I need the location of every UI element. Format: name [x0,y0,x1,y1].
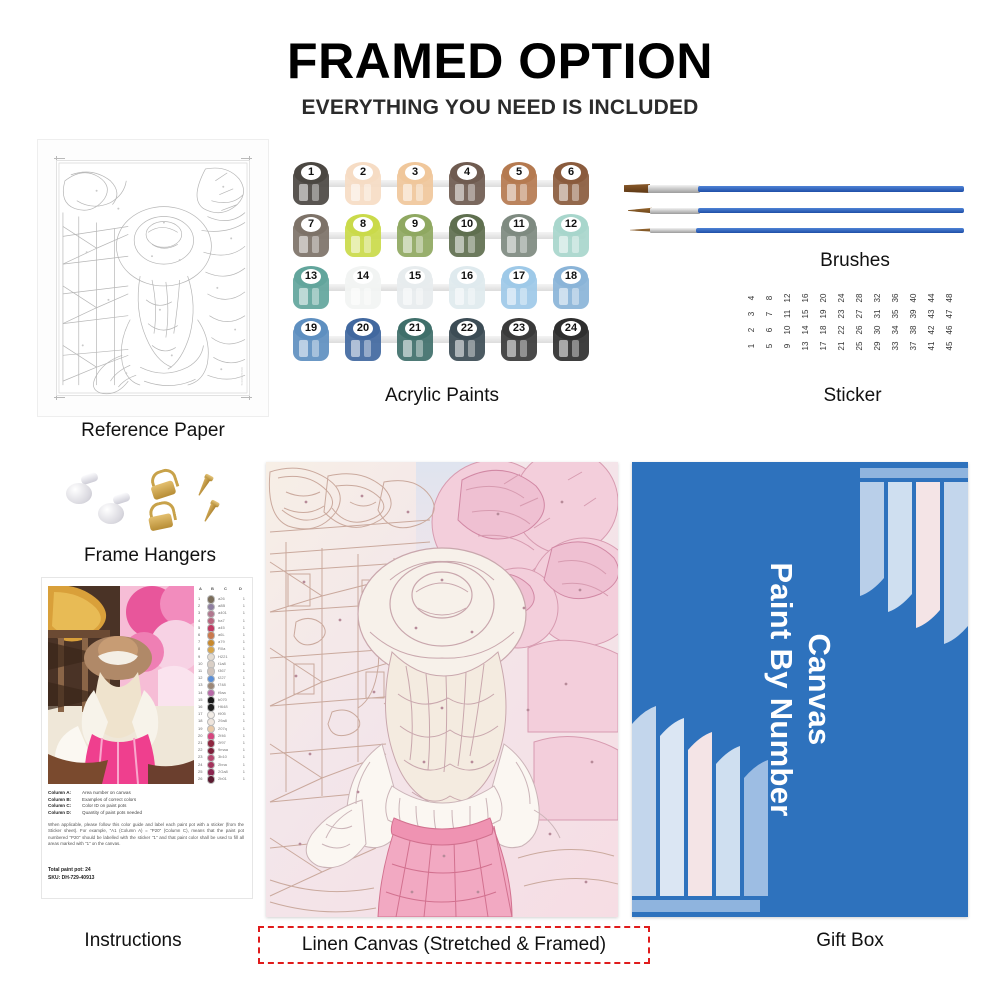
caption-frame-hangers: Frame Hangers [30,545,270,567]
paint-pot-23: 23 [500,318,538,362]
paint-pot-number: 22 [448,321,486,336]
caption-gift-box: Gift Box [730,930,970,952]
legend-row: 14t9aa1 [198,689,246,696]
sticker-number: 5 [761,337,777,355]
paint-pot-24: 24 [552,318,590,362]
legend-header-cell: B [211,586,214,591]
paint-pot-number: 8 [344,217,382,232]
paint-pot-20: 20 [344,318,382,362]
brush-round-medium [628,206,964,215]
legend-color-code: t1a8 [218,660,226,667]
legend-quantity: 1 [243,725,245,732]
paint-pot-18: 18 [552,266,590,310]
legend-row: 202f461 [198,732,246,739]
legend-header: ABCD [198,586,246,594]
page-title: FRAMED OPTION [0,32,1000,90]
legend-quantity: 1 [243,624,245,631]
paint-pot-19: 19 [292,318,330,362]
legend-row: 15b0701 [198,696,246,703]
sticker-number: 13 [797,337,813,355]
paint-pot-4: 4 [448,162,486,206]
caption-linen-canvas: Linen Canvas (Stretched & Framed) [302,934,606,956]
legend-quantity: 1 [243,739,245,746]
caption-brushes: Brushes [760,250,950,272]
legend-area-number: 1 [198,595,200,602]
sticker-number: 37 [905,337,921,355]
legend-area-number: 9 [198,653,200,660]
column-note-text: Color ID on paint pots [82,803,126,810]
paint-pot-6: 6 [552,162,590,206]
instructions-totals: Total paint pot: 24SKU: DH-729-40913 [48,866,244,882]
legend-area-number: 22 [198,746,202,753]
legend-row: 17t9051 [198,710,246,717]
legend-area-number: 20 [198,732,202,739]
legend-quantity: 1 [243,761,245,768]
legend-quantity: 1 [243,732,245,739]
paint-pot-21: 21 [396,318,434,362]
legend-row: 252Ga81 [198,768,246,775]
instructions-column-note: Column B:Examples of correct colors [48,797,246,804]
legend-quantity: 1 [243,667,245,674]
paint-pot-number: 23 [500,321,538,336]
legend-color-code: a401 [218,609,227,616]
paint-pot-number: 6 [552,165,590,180]
caption-instructions: Instructions [18,930,248,952]
linen-canvas-preview [266,462,618,917]
sticker-number: 25 [851,337,867,355]
legend-color-code: b070 [218,696,227,703]
legend-area-number: 7 [198,638,200,645]
legend-area-number: 21 [198,739,202,746]
svg-text:REFERENCE: REFERENCE [240,367,244,385]
legend-area-number: 8 [198,645,200,652]
legend-quantity: 1 [243,696,245,703]
paint-pot-number: 20 [344,321,382,336]
column-note-label: Column B: [48,797,82,804]
paint-pot-12: 12 [552,214,590,258]
paint-pot-15: 15 [396,266,434,310]
legend-quantity: 1 [243,710,245,717]
legend-color-code: t227 [218,674,226,681]
legend-quantity: 1 [243,703,245,710]
paint-pot-number: 5 [500,165,538,180]
legend-area-number: 6 [198,631,200,638]
legend-quantity: 1 [243,717,245,724]
sticker-number: 45 [941,337,957,355]
legend-quantity: 1 [243,638,245,645]
legend-color-swatch [207,775,215,783]
instructions-total-line: SKU: DH-729-40913 [48,874,244,882]
legend-row: 1a261 [198,595,246,602]
legend-row: 19207q1 [198,725,246,732]
paint-pot-number: 3 [396,165,434,180]
legend-color-code: a6L [218,631,225,638]
paint-pot-22: 22 [448,318,486,362]
paint-pot-number: 15 [396,269,434,284]
column-note-text: Quantity of paint pots needed [82,810,142,817]
paint-pot-9: 9 [396,214,434,258]
paint-pot-7: 7 [292,214,330,258]
hanger-d-ring [143,499,178,533]
paint-pot-10: 10 [448,214,486,258]
instructions-column-note: Column A:Area number on canvas [48,790,246,797]
legend-quantity: 1 [243,631,245,638]
legend-color-code: 2f46 [218,732,226,739]
instructions-sheet: ABCD 1a2612a8B13a40114ba715a4516a6L17a79… [42,578,252,898]
legend-area-number: 15 [198,696,202,703]
legend-area-number: 4 [198,617,200,624]
legend-quantity: 1 [243,653,245,660]
sticker-number: 21 [833,337,849,355]
legend-color-code: 2b01 [218,775,227,782]
gift-box-line2: Paint By Number [762,562,800,816]
legend-quantity: 1 [243,689,245,696]
paint-pot-number: 24 [552,321,590,336]
sticker-number: 1 [743,337,759,355]
brush-flat [624,184,964,193]
legend-color-code: ba7 [218,617,225,624]
instructions-paragraph: When applicable, please follow this colo… [48,822,244,848]
legend-color-code: t9aa [218,689,226,696]
caption-reference-paper: Reference Paper [20,420,286,442]
paint-pot-3: 3 [396,162,434,206]
legend-row: 6a6L1 [198,631,246,638]
paint-pot-number: 1 [292,165,330,180]
reference-paper-lineart: REFERENCE [56,160,250,396]
legend-row: 12t2271 [198,674,246,681]
legend-row: 9H2211 [198,653,246,660]
paint-pot-number: 4 [448,165,486,180]
instructions-total-line: Total paint pot: 24 [48,866,244,874]
column-note-label: Column D: [48,810,82,817]
brushes-group [624,178,964,248]
legend-area-number: 14 [198,689,202,696]
paint-pot-number: 13 [292,269,330,284]
legend-area-number: 24 [198,761,202,768]
legend-quantity: 1 [243,609,245,616]
column-note-text: Area number on canvas [82,790,131,797]
instructions-column-notes: Column A:Area number on canvasColumn B:E… [48,790,246,816]
legend-color-code: 2Ga8 [218,768,228,775]
legend-quantity: 1 [243,595,245,602]
brush-round-fine [630,226,964,235]
paint-pot-17: 17 [500,266,538,310]
paint-pot-number: 17 [500,269,538,284]
legend-row: 212f971 [198,739,246,746]
legend-quantity: 1 [243,617,245,624]
paint-pot-number: 9 [396,217,434,232]
paint-pot-number: 11 [500,217,538,232]
paint-pot-5: 5 [500,162,538,206]
legend-color-code: 2bna [218,761,227,768]
legend-row: 8R0a1 [198,645,246,652]
legend-color-code: R0a [218,645,225,652]
legend-area-number: 23 [198,753,202,760]
paint-pot-number: 18 [552,269,590,284]
paint-pot-number: 16 [448,269,486,284]
legend-color-code: t367 [218,667,226,674]
legend-header-cell: A [199,586,202,591]
legend-row: 1829a81 [198,717,246,724]
paint-pot-2: 2 [344,162,382,206]
legend-quantity: 1 [243,775,245,782]
legend-area-number: 10 [198,660,202,667]
paint-pot-number: 10 [448,217,486,232]
legend-color-code: a26 [218,595,225,602]
paint-pot-number: 14 [344,269,382,284]
legend-quantity: 1 [243,768,245,775]
hanger-screw [201,499,220,524]
legend-color-code: a79 [218,638,225,645]
legend-color-code: t748 [218,681,226,688]
frame-hangers-group [60,468,240,540]
paint-pot-1: 1 [292,162,330,206]
legend-area-number: 26 [198,775,202,782]
legend-row: 16H6481 [198,703,246,710]
legend-row: 5a451 [198,624,246,631]
column-note-text: Examples of correct colors [82,797,136,804]
legend-color-code: t905 [218,710,226,717]
caption-linen-canvas-highlight: Linen Canvas (Stretched & Framed) [258,926,650,964]
legend-area-number: 11 [198,667,202,674]
caption-sticker: Sticker [760,385,945,407]
hanger-screw [195,473,214,498]
legend-color-code: 9maa [218,746,228,753]
gift-box-line1: Canvas [800,562,838,816]
paint-pot-8: 8 [344,214,382,258]
legend-color-code: a45 [218,624,225,631]
sticker-number: 33 [887,337,903,355]
sticker-number: 17 [815,337,831,355]
instructions-artwork-preview [48,586,194,784]
legend-quantity: 1 [243,753,245,760]
legend-area-number: 3 [198,609,200,616]
legend-area-number: 16 [198,703,202,710]
sticker-number: 9 [779,337,795,355]
legend-row: 229maa1 [198,746,246,753]
legend-area-number: 12 [198,674,202,681]
legend-area-number: 25 [198,768,202,775]
legend-color-code: 29a8 [218,717,227,724]
legend-quantity: 1 [243,746,245,753]
column-note-label: Column A: [48,790,82,797]
legend-color-code: H221 [218,653,228,660]
legend-row: 262b011 [198,775,246,782]
legend-area-number: 19 [198,725,202,732]
paint-pot-number: 21 [396,321,434,336]
instructions-column-note: Column D:Quantity of paint pots needed [48,810,246,817]
paint-pot-number: 12 [552,217,590,232]
instructions-column-note: Column C:Color ID on paint pots [48,803,246,810]
legend-color-code: a8B [218,602,225,609]
hanger-hook [98,494,128,524]
instructions-color-legend: ABCD 1a2612a8B13a40114ba715a4516a6L17a79… [198,586,246,784]
legend-row: 13t7481 [198,681,246,688]
legend-area-number: 17 [198,710,202,717]
legend-color-code: 3b10 [218,753,227,760]
sticker-sheet-group: 4812162024283236404448371115192327313539… [738,288,968,366]
acrylic-paints-group: 123456789101112131415161718192021222324 [292,162,592,362]
reference-paper-sheet: REFERENCE [38,140,268,416]
legend-row: 3a4011 [198,609,246,616]
sticker-number-grid: 4812162024283236404448371115192327313539… [742,290,958,354]
legend-color-code: H648 [218,703,228,710]
sticker-number: 41 [923,337,939,355]
paint-pot-16: 16 [448,266,486,310]
legend-row: 2a8B1 [198,602,246,609]
legend-area-number: 2 [198,602,200,609]
legend-quantity: 1 [243,681,245,688]
sticker-number: 29 [869,337,885,355]
legend-color-code: 2f97 [218,739,226,746]
legend-row: 10t1a81 [198,660,246,667]
paint-pot-13: 13 [292,266,330,310]
legend-area-number: 18 [198,717,202,724]
legend-quantity: 1 [243,660,245,667]
legend-header-cell: D [239,586,242,591]
caption-acrylic-paints: Acrylic Paints [292,385,592,407]
legend-header-cell: C [224,586,227,591]
paint-pot-number: 2 [344,165,382,180]
paint-pot-11: 11 [500,214,538,258]
legend-quantity: 1 [243,674,245,681]
legend-row: 11t3671 [198,667,246,674]
legend-quantity: 1 [243,645,245,652]
hanger-d-ring [144,466,181,502]
legend-row: 242bna1 [198,761,246,768]
legend-area-number: 13 [198,681,202,688]
column-note-label: Column C: [48,803,82,810]
page-subtitle: EVERYTHING YOU NEED IS INCLUDED [0,96,1000,120]
legend-quantity: 1 [243,602,245,609]
legend-row: 4ba71 [198,617,246,624]
paint-pot-number: 7 [292,217,330,232]
gift-box-preview: Canvas Paint By Number [632,462,968,917]
paint-pot-number: 19 [292,321,330,336]
legend-area-number: 5 [198,624,200,631]
hanger-hook [66,474,96,504]
legend-row: 7a791 [198,638,246,645]
paint-pot-14: 14 [344,266,382,310]
legend-color-code: 207q [218,725,227,732]
legend-row: 233b101 [198,753,246,760]
